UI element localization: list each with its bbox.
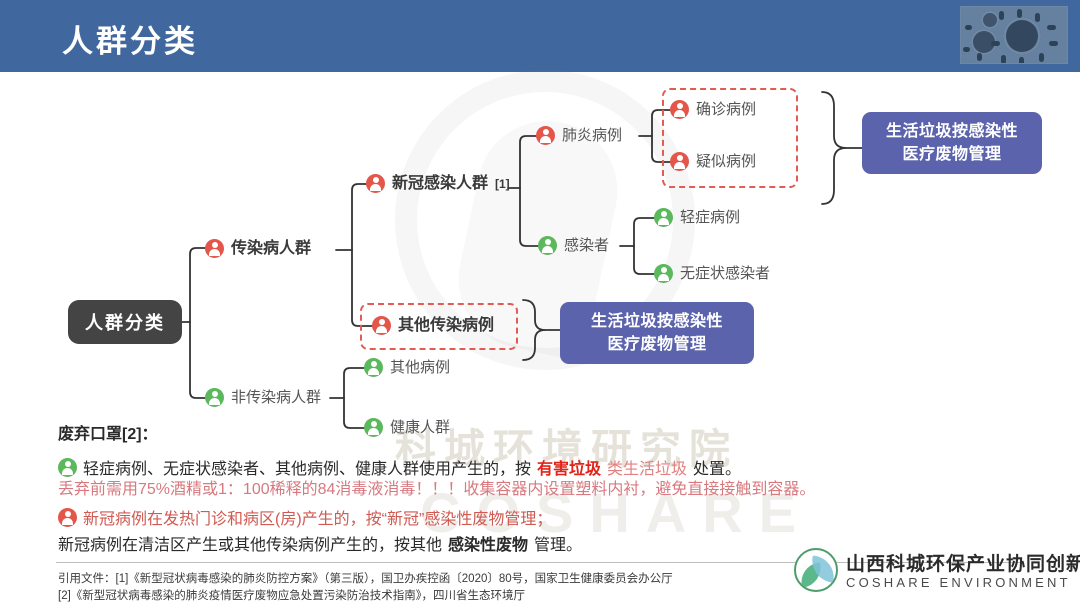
notes-line-1-highlight-1: 有害垃圾 bbox=[537, 455, 601, 479]
notes-line-3-text: 新冠病例在发热门诊和病区(房)产生的，按“新冠”感染性废物管理； bbox=[83, 505, 552, 529]
logo-text-en: COSHARE ENVIRONMENT bbox=[846, 575, 1071, 590]
callout-bottom-line1: 生活垃圾按感染性 bbox=[591, 313, 723, 330]
node-root[interactable]: 人群分类 bbox=[68, 300, 182, 344]
person-green-icon bbox=[654, 264, 673, 283]
footer-citation-1: 引用文件：[1]《新型冠状病毒感染的肺炎防控方案》（第三版），国卫办疾控函〔20… bbox=[58, 570, 673, 586]
person-red-icon bbox=[536, 126, 555, 145]
footnote-marker-1: [1] bbox=[495, 177, 510, 191]
node-healthy-group[interactable]: 健康人群 bbox=[364, 418, 450, 437]
person-red-icon bbox=[670, 152, 689, 171]
node-label: 无症状感染者 bbox=[680, 266, 770, 281]
callout-top-line1: 生活垃圾按感染性 bbox=[886, 123, 1018, 140]
notes-line-1-highlight-2: 类生活垃圾 bbox=[607, 455, 687, 479]
node-label: 传染病人群 bbox=[231, 241, 311, 257]
node-label: 新冠感染人群 bbox=[392, 176, 488, 192]
node-suspected-case[interactable]: 疑似病例 bbox=[670, 152, 756, 171]
page-title: 人群分类 bbox=[62, 16, 198, 61]
person-green-icon bbox=[364, 418, 383, 437]
person-green-icon bbox=[58, 458, 77, 477]
notes-line-4-bold: 感染性废物 bbox=[448, 531, 528, 555]
person-red-icon bbox=[670, 100, 689, 119]
leaf-logo-icon bbox=[794, 548, 838, 592]
coshare-logo: 山西科城环保产业协同创新研究院 COSHARE ENVIRONMENT bbox=[794, 543, 1070, 599]
node-label: 健康人群 bbox=[390, 420, 450, 435]
notes-line-4-post: 管理。 bbox=[534, 531, 582, 555]
notes-line-3: 新冠病例在发热门诊和病区(房)产生的，按“新冠”感染性废物管理； bbox=[58, 505, 552, 529]
slide-canvas: 人群分类 科城环境研究院 COSHARE bbox=[0, 0, 1080, 606]
node-mild-case[interactable]: 轻症病例 bbox=[654, 208, 740, 227]
callout-bottom-line2: 医疗废物管理 bbox=[607, 336, 706, 353]
mindmap: 人群分类 传染病人群 新冠感染人群 [1] 肺炎病例 确诊病例 疑似病例 bbox=[0, 72, 1080, 442]
node-pneumonia-case[interactable]: 肺炎病例 bbox=[536, 126, 622, 145]
person-green-icon bbox=[538, 236, 557, 255]
person-red-icon bbox=[372, 316, 391, 335]
notes-line-1-pre: 轻症病例、无症状感染者、其他病例、健康人群使用产生的，按 bbox=[83, 455, 531, 479]
node-label: 确诊病例 bbox=[696, 102, 756, 117]
footer-citation-2: [2]《新型冠状病毒感染的肺炎疫情医疗废物应急处置污染防治技术指南》，四川省生态… bbox=[58, 587, 525, 603]
callout-top-line2: 医疗废物管理 bbox=[902, 146, 1001, 163]
node-label: 轻症病例 bbox=[680, 210, 740, 225]
node-infectious-group[interactable]: 传染病人群 bbox=[205, 239, 311, 258]
notes-line-4: 新冠病例在清洁区产生或其他传染病例产生的，按其他感染性废物管理。 bbox=[58, 531, 582, 555]
node-confirmed-case[interactable]: 确诊病例 bbox=[670, 100, 756, 119]
person-green-icon bbox=[205, 388, 224, 407]
notes-line-1: 轻症病例、无症状感染者、其他病例、健康人群使用产生的，按有害垃圾类生活垃圾处置。 bbox=[58, 455, 741, 479]
coronavirus-image bbox=[960, 6, 1068, 64]
person-green-icon bbox=[364, 358, 383, 377]
notes-line-2: 丢弃前需用75%酒精或1：100稀释的84消毒液消毒！！！收集容器内设置塑料内衬… bbox=[58, 482, 815, 498]
person-red-icon bbox=[366, 174, 385, 193]
node-label: 疑似病例 bbox=[696, 154, 756, 169]
node-label: 非传染病人群 bbox=[231, 390, 321, 405]
node-label: 其他病例 bbox=[390, 360, 450, 375]
slide-header: 人群分类 bbox=[0, 0, 1080, 72]
node-asymptomatic-carrier[interactable]: 无症状感染者 bbox=[654, 264, 770, 283]
node-other-case[interactable]: 其他病例 bbox=[364, 358, 450, 377]
notes-line-1-post: 处置。 bbox=[693, 455, 741, 479]
notes-heading: 废弃口罩[2]： bbox=[58, 427, 158, 443]
notes-line-4-pre: 新冠病例在清洁区产生或其他传染病例产生的，按其他 bbox=[58, 531, 442, 555]
callout-bottom[interactable]: 生活垃圾按感染性 医疗废物管理 bbox=[560, 302, 754, 364]
node-infected-person[interactable]: 感染者 bbox=[538, 236, 609, 255]
person-red-icon bbox=[58, 508, 77, 527]
node-label: 感染者 bbox=[564, 238, 609, 253]
callout-top[interactable]: 生活垃圾按感染性 医疗废物管理 bbox=[862, 112, 1042, 174]
person-red-icon bbox=[205, 239, 224, 258]
person-green-icon bbox=[654, 208, 673, 227]
node-label: 其他传染病例 bbox=[398, 318, 494, 334]
node-other-infectious-case[interactable]: 其他传染病例 bbox=[372, 316, 494, 335]
node-non-infectious-group[interactable]: 非传染病人群 bbox=[205, 388, 321, 407]
node-label: 肺炎病例 bbox=[562, 128, 622, 143]
logo-text-cn: 山西科城环保产业协同创新研究院 bbox=[846, 549, 1080, 576]
node-covid-group[interactable]: 新冠感染人群 [1] bbox=[366, 174, 510, 193]
